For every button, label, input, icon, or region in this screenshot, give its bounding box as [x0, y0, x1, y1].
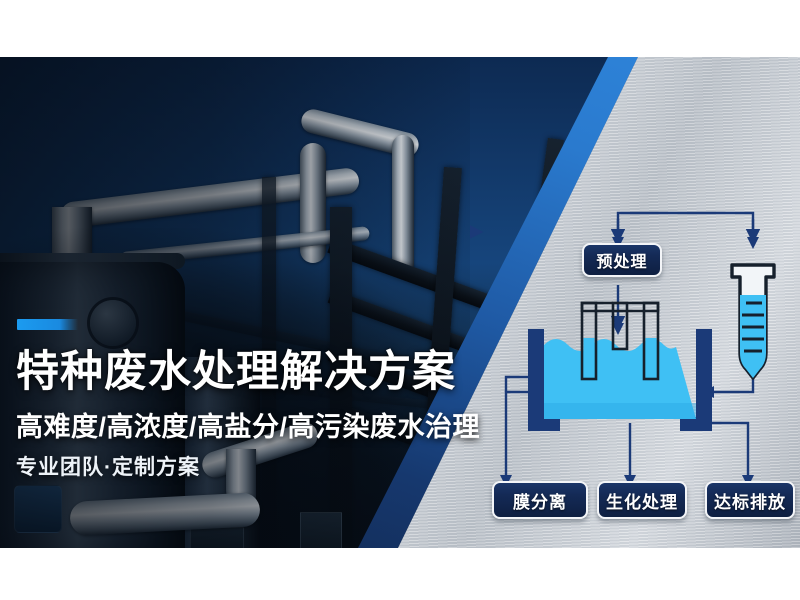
- page-subtitle: 高难度/高浓度/高盐分/高污染废水治理: [16, 411, 486, 443]
- flow-node-label: 膜分离: [513, 488, 567, 513]
- flow-node-label: 达标排放: [714, 488, 786, 513]
- flow-node-label: 预处理: [596, 248, 647, 272]
- test-tube-icon: [732, 265, 774, 378]
- wastewater-treatment-flow-diagram: 预处理 膜分离 生化处理 达标排放: [470, 207, 800, 537]
- page-tagline: 专业团队·定制方案: [16, 455, 416, 481]
- accent-bar: [17, 319, 78, 330]
- flow-node-compliant-discharge[interactable]: 达标排放: [705, 481, 795, 519]
- promo-banner: 特种废水处理解决方案 高难度/高浓度/高盐分/高污染废水治理 专业团队·定制方案: [0, 57, 800, 548]
- flow-node-membrane-separation[interactable]: 膜分离: [492, 481, 588, 519]
- flow-node-pretreatment[interactable]: 预处理: [582, 243, 662, 277]
- treatment-tank-icon: [528, 303, 712, 431]
- flow-node-label: 生化处理: [606, 488, 678, 513]
- flow-node-biochemical-treatment[interactable]: 生化处理: [597, 481, 687, 519]
- page-title: 特种废水处理解决方案: [16, 347, 476, 397]
